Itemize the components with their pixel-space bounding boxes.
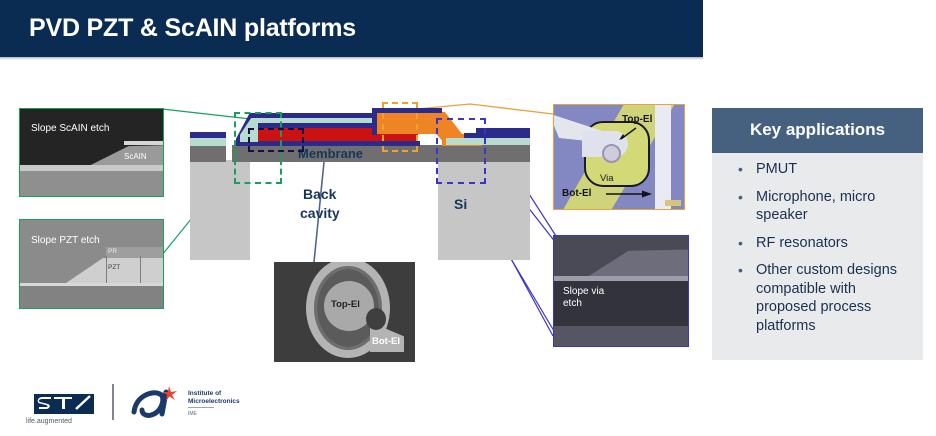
slide-canvas: PVD PZT & ScAIN platforms xyxy=(0,0,936,436)
list-item-label: RF resonators xyxy=(756,235,848,251)
via-bottom-electrode-arrow-icon xyxy=(606,189,654,199)
pmut-top-electrode-label: Top-El xyxy=(331,299,360,310)
back-cavity-label-line2: cavity xyxy=(300,205,340,221)
astar-institute-name: Institute of Microelectronics xyxy=(188,390,240,406)
bullet-icon: • xyxy=(738,261,743,280)
list-item-label: Other custom designs compatible with pro… xyxy=(756,262,897,334)
pzt-layer-label: PZT xyxy=(108,264,120,271)
electrode-left-stub xyxy=(190,132,226,138)
st-logo-icon xyxy=(30,388,98,418)
pzt-pr-label: PR xyxy=(108,248,117,255)
scaln-top-film xyxy=(124,141,163,145)
list-item: • Other custom designs compatible with p… xyxy=(712,261,923,344)
highlight-box-via xyxy=(436,118,486,184)
key-applications-list: • PMUT • Microphone, micro speaker • RF … xyxy=(712,160,923,344)
scaln-substrate xyxy=(20,171,163,196)
highlight-box-metal-pad xyxy=(382,102,418,152)
pzt-edge-right xyxy=(140,256,141,283)
slide-title-bar: PVD PZT & ScAIN platforms xyxy=(0,0,703,57)
membrane-layer-left xyxy=(190,145,226,162)
dielectric-left-stub xyxy=(190,138,226,146)
via-bottom-electrode-label: Bot-El xyxy=(562,188,591,199)
astar-line-1: Institute of xyxy=(188,390,221,397)
scaln-layer-label: ScAIN xyxy=(124,151,147,163)
astar-rule xyxy=(188,407,214,408)
device-cross-section: Membrane Back cavity Si xyxy=(190,100,530,260)
astar-line-2: Microelectronics xyxy=(188,398,240,405)
bullet-icon: • xyxy=(738,188,743,207)
back-cavity-label-line1: Back xyxy=(303,186,336,202)
micrograph-pmut-top-view: Top-El Bot-El xyxy=(274,262,415,362)
silicon-label: Si xyxy=(454,196,467,212)
micrograph-pzt-etch: PR PZT Slope PZT etch xyxy=(19,219,164,309)
key-applications-panel: Key applications • PMUT • Microphone, mi… xyxy=(712,108,923,360)
scaln-caption: Slope ScAIN etch xyxy=(31,123,109,135)
micrograph-scaln-etch: Slope ScAIN etch ScAIN xyxy=(19,108,164,197)
membrane-label: Membrane xyxy=(298,146,363,161)
pmut-bottom-electrode-label: Bot-El xyxy=(372,336,400,347)
scale-bar-icon xyxy=(665,200,681,206)
pzt-caption: Slope PZT etch xyxy=(31,235,100,247)
pmut-ring-notch xyxy=(366,308,386,330)
via-label: Via xyxy=(600,173,614,184)
via-etch-caption: Slope via etch xyxy=(563,286,604,310)
st-tagline: life.augmented xyxy=(26,418,72,425)
micrograph-slope-via-etch: Slope via etch xyxy=(553,235,689,347)
list-item: • Microphone, micro speaker xyxy=(712,188,923,234)
via-right-rail xyxy=(655,105,671,209)
list-item: • PMUT xyxy=(712,160,923,188)
list-item-label: Microphone, micro speaker xyxy=(756,189,875,224)
micrograph-via-top-view: Top-El Via Bot-El xyxy=(553,104,685,210)
via-opening xyxy=(602,144,621,163)
bullet-icon: • xyxy=(738,160,743,179)
via-top-electrode-arrow-icon xyxy=(616,127,638,141)
astar-abbrev: IME xyxy=(188,411,197,417)
title-bar-shadow xyxy=(0,57,703,60)
list-item-label: PMUT xyxy=(756,161,797,177)
key-applications-title: Key applications xyxy=(712,120,923,140)
bullet-icon: • xyxy=(738,234,743,253)
list-item: • RF resonators xyxy=(712,234,923,262)
footer-logos: life.augmented Institute of Microelectro… xyxy=(0,380,936,436)
via-etch-bottom-region xyxy=(554,326,688,346)
metal-pad-left-wall xyxy=(372,108,377,135)
logo-divider xyxy=(112,384,114,420)
pzt-substrate xyxy=(20,286,163,308)
astar-logo-icon xyxy=(126,384,184,420)
via-top-electrode-label: Top-El xyxy=(622,114,652,125)
pzt-edge-left xyxy=(106,256,107,283)
highlight-box-membrane xyxy=(248,128,304,152)
key-applications-header: Key applications xyxy=(712,108,923,153)
page-title: PVD PZT & ScAIN platforms xyxy=(29,14,356,43)
